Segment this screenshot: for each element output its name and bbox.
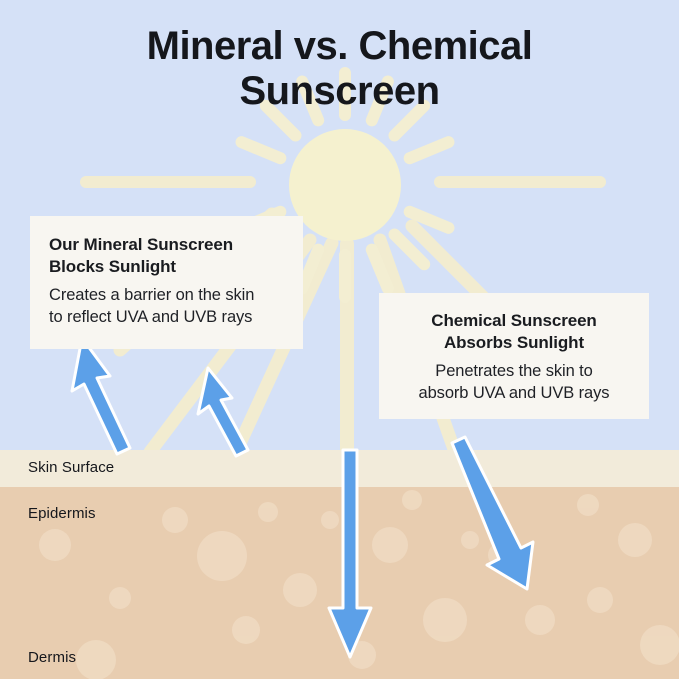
skin-cell <box>423 598 467 642</box>
callout-mineral-heading-line-2: Blocks Sunlight <box>49 257 176 276</box>
sunscreen-infographic: Mineral vs. Chemical Sunscreen Our Miner… <box>0 0 679 679</box>
callout-chemical-body-line-2: absorb UVA and UVB rays <box>419 384 610 402</box>
callout-mineral-body-line-1: Creates a barrier on the skin <box>49 286 254 304</box>
skin-cell <box>283 573 317 607</box>
layer-label-epidermis: Epidermis <box>28 505 96 522</box>
skin-cell <box>618 523 652 557</box>
skin-cell <box>640 625 679 665</box>
skin-cell <box>372 527 408 563</box>
skin-cell <box>258 502 278 522</box>
skin-cell <box>321 511 339 529</box>
skin-cell <box>39 529 71 561</box>
skin-cell <box>461 531 479 549</box>
layer-label-skin-surface: Skin Surface <box>28 459 114 476</box>
skin-cell <box>109 587 131 609</box>
callout-mineral-heading: Our Mineral Sunscreen Blocks Sunlight <box>49 234 284 279</box>
callout-chemical-body-line-1: Penetrates the skin to <box>435 362 592 380</box>
skin-cell <box>76 640 116 679</box>
callout-chemical-heading-line-1: Chemical Sunscreen <box>431 311 596 330</box>
callout-mineral-body-line-2: to reflect UVA and UVB rays <box>49 308 252 326</box>
callout-chemical-heading: Chemical Sunscreen Absorbs Sunlight <box>399 310 629 355</box>
sun-icon <box>289 129 401 241</box>
callout-mineral-body: Creates a barrier on the skin to reflect… <box>49 284 284 329</box>
callout-chemical-body: Penetrates the skin to absorb UVA and UV… <box>399 360 629 405</box>
callout-mineral-heading-line-1: Our Mineral Sunscreen <box>49 235 233 254</box>
layer-label-dermis: Dermis <box>28 649 76 666</box>
skin-cell <box>577 494 599 516</box>
callout-chemical-heading-line-2: Absorbs Sunlight <box>444 333 584 352</box>
callout-chemical-sunscreen: Chemical Sunscreen Absorbs Sunlight Pene… <box>379 293 649 419</box>
skin-cell <box>525 605 555 635</box>
skin-cell <box>232 616 260 644</box>
skin-cell <box>162 507 188 533</box>
callout-mineral-sunscreen: Our Mineral Sunscreen Blocks Sunlight Cr… <box>30 216 303 349</box>
skin-cell <box>587 587 613 613</box>
skin-cell <box>402 490 422 510</box>
skin-cell <box>197 531 247 581</box>
